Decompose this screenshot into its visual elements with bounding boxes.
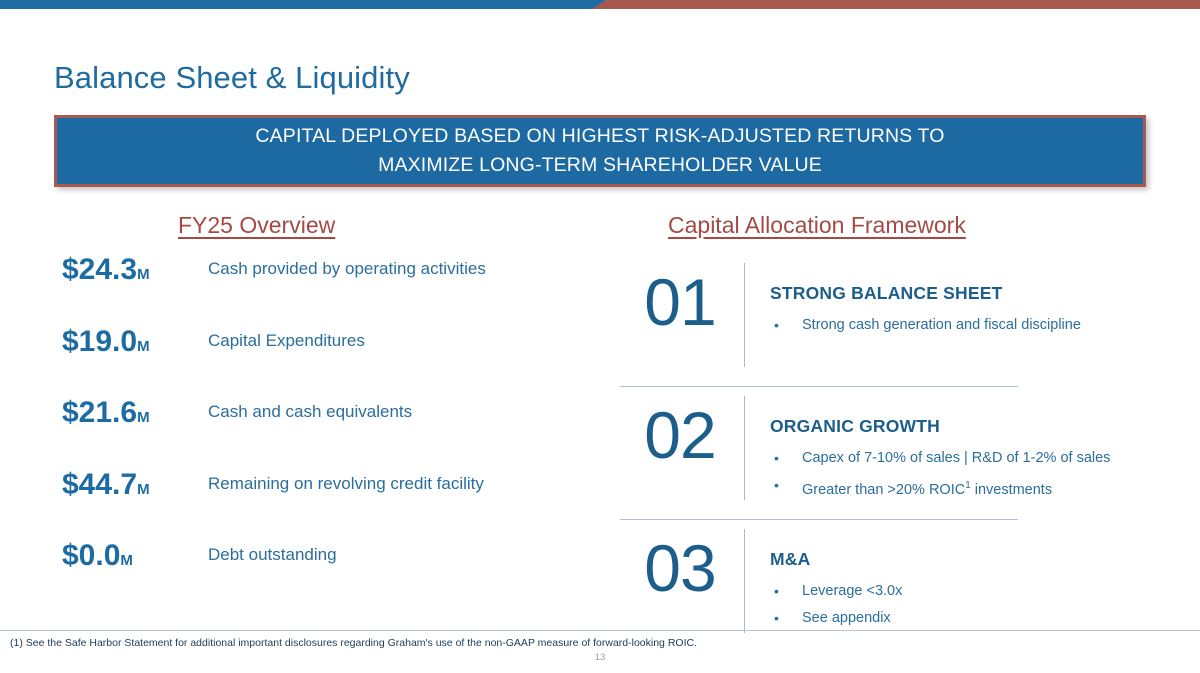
framework-block-title: M&A [770, 549, 1140, 570]
framework-bullet-text-before: Greater than >20% ROIC [802, 482, 965, 498]
footer-divider [0, 630, 1200, 631]
framework-block-02: 02 ORGANIC GROWTH Capex of 7-10% of sale… [620, 386, 1140, 519]
metric-value-amount: $24.3 [62, 253, 137, 286]
right-column-heading: Capital Allocation Framework [668, 212, 966, 239]
metric-value-unit: M [137, 338, 150, 355]
framework-block-divider [744, 529, 745, 633]
metric-value: $21.6M [62, 396, 210, 430]
framework-separator [620, 519, 1018, 520]
top-accent-bar-red-segment [592, 0, 1200, 9]
framework-bullet: See appendix [770, 605, 1140, 632]
metric-value: $0.0M [62, 539, 210, 573]
framework-block-title: STRONG BALANCE SHEET [770, 283, 1140, 304]
framework-separator [620, 386, 1018, 387]
framework-bullet: Strong cash generation and fiscal discip… [770, 312, 1140, 339]
framework-block-divider [744, 263, 745, 367]
metric-value: $19.0M [62, 325, 210, 359]
metric-label: Cash and cash equivalents [208, 402, 412, 422]
framework-block-body: ORGANIC GROWTH Capex of 7-10% of sales |… [770, 416, 1140, 504]
headline-banner: CAPITAL DEPLOYED BASED ON HIGHEST RISK-A… [54, 115, 1146, 187]
metric-value-unit: M [120, 552, 133, 569]
metric-value-amount: $21.6 [62, 396, 137, 429]
framework-block-body: STRONG BALANCE SHEET Strong cash generat… [770, 283, 1140, 339]
framework-bullet: Capex of 7-10% of sales | R&D of 1-2% of… [770, 445, 1140, 472]
framework-block-body: M&A Leverage <3.0x See appendix [770, 549, 1140, 632]
page-number: 13 [0, 652, 1200, 663]
metric-value-amount: $0.0 [62, 539, 120, 572]
metric-row: $19.0M Capital Expenditures [62, 325, 602, 397]
metric-label: Capital Expenditures [208, 331, 365, 351]
headline-banner-line-1: CAPITAL DEPLOYED BASED ON HIGHEST RISK-A… [255, 122, 944, 151]
capital-allocation-framework-list: 01 STRONG BALANCE SHEET Strong cash gene… [620, 253, 1140, 652]
framework-block-divider [744, 396, 745, 500]
framework-bullet: Greater than >20% ROIC1 investments [770, 472, 1140, 504]
top-accent-bar [0, 0, 1200, 9]
metric-row: $44.7M Remaining on revolving credit fac… [62, 468, 602, 540]
metric-label: Remaining on revolving credit facility [208, 474, 484, 494]
metric-value-unit: M [137, 266, 150, 283]
metric-value-unit: M [137, 481, 150, 498]
framework-block-number: 02 [624, 402, 736, 468]
metric-value-amount: $19.0 [62, 325, 137, 358]
framework-block-number: 03 [624, 535, 736, 601]
page-title: Balance Sheet & Liquidity [54, 60, 410, 96]
metric-label: Debt outstanding [208, 545, 337, 565]
top-accent-bar-blue-segment [0, 0, 606, 9]
metric-label: Cash provided by operating activities [208, 259, 486, 279]
metric-value-unit: M [137, 409, 150, 426]
metric-row: $21.6M Cash and cash equivalents [62, 396, 602, 468]
framework-block-title: ORGANIC GROWTH [770, 416, 1140, 437]
framework-block-number: 01 [624, 269, 736, 335]
metric-row: $0.0M Debt outstanding [62, 539, 602, 611]
framework-bullet-text-after: investments [971, 482, 1052, 498]
fy25-overview-metric-list: $24.3M Cash provided by operating activi… [62, 253, 602, 611]
framework-bullet: Leverage <3.0x [770, 578, 1140, 605]
left-column-heading: FY25 Overview [178, 212, 335, 239]
metric-value: $44.7M [62, 468, 210, 502]
metric-value-amount: $44.7 [62, 468, 137, 501]
metric-row: $24.3M Cash provided by operating activi… [62, 253, 602, 325]
framework-block-01: 01 STRONG BALANCE SHEET Strong cash gene… [620, 253, 1140, 386]
headline-banner-line-2: MAXIMIZE LONG-TERM SHAREHOLDER VALUE [378, 151, 822, 180]
framework-block-03: 03 M&A Leverage <3.0x See appendix [620, 519, 1140, 652]
footnote: (1) See the Safe Harbor Statement for ad… [10, 637, 697, 649]
metric-value: $24.3M [62, 253, 210, 287]
